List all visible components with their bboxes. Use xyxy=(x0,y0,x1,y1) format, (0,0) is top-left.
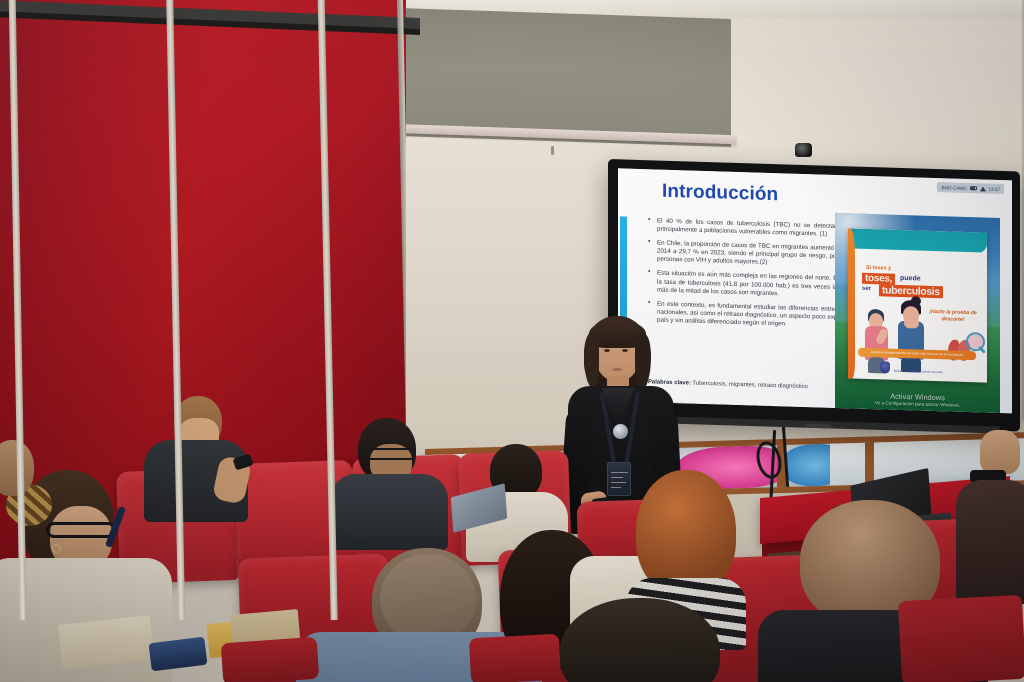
slide-poster-image: Si toses y toses, puede ser tuberculosis… xyxy=(835,213,1000,413)
presenter-mouth xyxy=(612,368,622,371)
seat-armrest xyxy=(898,595,1024,682)
presenter-hair-left xyxy=(584,334,599,388)
poster-word-puede: puede xyxy=(900,275,921,283)
audience-member xyxy=(962,430,1024,580)
keywords-value: Tuberculosis, migrantes, retraso diagnós… xyxy=(691,381,808,391)
poster-card: Si toses y toses, puede ser tuberculosis… xyxy=(848,228,987,382)
poster-word-ser: ser xyxy=(862,286,871,292)
status-bar-label: BNO-C4WD xyxy=(941,185,966,191)
eyeglasses-icon xyxy=(46,522,116,538)
smartphone[interactable] xyxy=(149,637,208,672)
status-bar-time: 13:57 xyxy=(989,186,1001,191)
display-brand-logo xyxy=(805,424,831,429)
raised-hand xyxy=(980,430,1020,474)
ceiling-camera-icon xyxy=(795,143,812,157)
poster-word-tuberculosis: tuberculosis xyxy=(879,284,943,298)
poster-callout: ¡Hazte la prueba de descarte! xyxy=(927,309,979,325)
magnifier-handle-icon xyxy=(978,346,986,353)
presenter-hair-right xyxy=(635,334,651,390)
poster-line-1: Si toses y xyxy=(866,265,891,272)
poster-word-toses: toses, xyxy=(862,273,895,285)
poster-org: Ministerio de Salud · Gobierno de Chile xyxy=(894,370,966,376)
presenter-eye xyxy=(622,349,628,352)
seat-armrest xyxy=(221,637,320,682)
audience-member xyxy=(560,598,730,682)
wall-screw xyxy=(551,146,554,155)
brooch-icon xyxy=(613,424,628,439)
name-badge xyxy=(607,462,631,496)
poster-side-accent xyxy=(848,228,855,378)
auditorium-photo: Introducción El 40 % de los casos de tub… xyxy=(0,0,1024,682)
wifi-icon xyxy=(980,186,986,191)
eyeglasses-icon xyxy=(362,448,416,460)
presenter-eye xyxy=(604,349,610,352)
ministry-logo-icon xyxy=(880,361,890,373)
display-status-bar[interactable]: BNO-C4WD 13:57 xyxy=(937,182,1004,194)
slide-title: Introducción xyxy=(662,181,778,207)
audience-member xyxy=(340,418,440,540)
earring-icon xyxy=(52,544,61,553)
battery-icon xyxy=(970,186,977,191)
seat-armrest xyxy=(469,634,561,682)
